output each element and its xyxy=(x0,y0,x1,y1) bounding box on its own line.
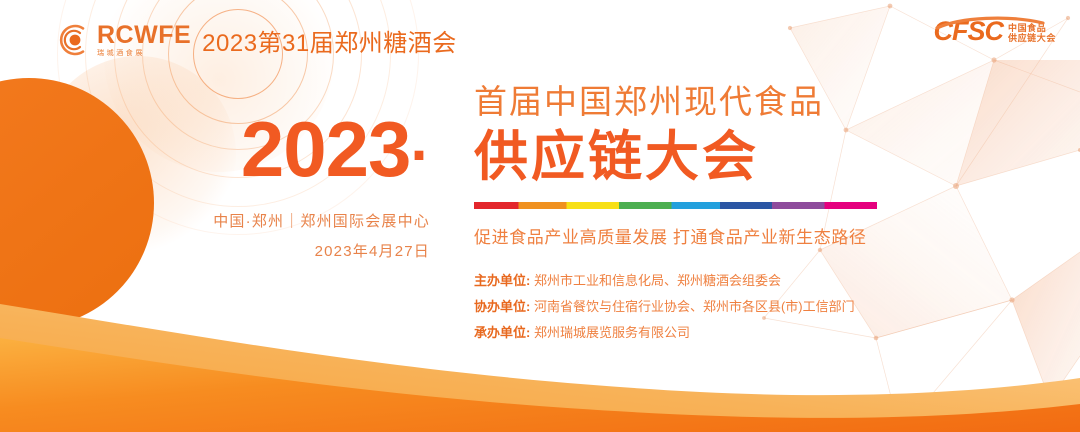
year-heading: 2023· xyxy=(0,110,430,188)
organizer-value: 河南省餐饮与住宿行业协会、郑州市各区县(市)工信部门 xyxy=(534,299,855,314)
swoosh-icon xyxy=(935,9,1045,36)
organizer-row: 承办单位: 郑州瑞城展览服务有限公司 xyxy=(474,326,894,339)
organizer-row: 主办单位: 郑州市工业和信息化局、郑州糖酒会组委会 xyxy=(474,274,894,287)
c-arc-logo-icon xyxy=(56,22,92,58)
cfsc-logo[interactable]: CFSC 中国食品 供应链大会 xyxy=(933,18,1056,45)
rcwfe-logo[interactable]: RCWFE 瑞城酒食展 2023第31届郑州糖酒会 xyxy=(56,22,457,58)
rcwfe-wordmark-sub: 瑞城酒食展 xyxy=(97,50,191,57)
left-content-column: 2023· 中国·郑州｜郑州国际会展中心 2023年4月27日 xyxy=(0,110,452,261)
right-content-column: 首届中国郑州现代食品 供应链大会 促进食品产业高质量发展 打通食品产业新生态路径… xyxy=(474,82,894,352)
organizers-list: 主办单位: 郑州市工业和信息化局、郑州糖酒会组委会 协办单位: 河南省餐饮与住宿… xyxy=(474,274,894,339)
organizer-value: 郑州瑞城展览服务有限公司 xyxy=(534,325,690,340)
headline-line-2: 供应链大会 xyxy=(474,126,894,188)
event-banner: RCWFE 瑞城酒食展 2023第31届郑州糖酒会 CFSC 中国食品 供应链大… xyxy=(0,0,1080,432)
year-separator: · xyxy=(410,121,430,190)
rcwfe-wordmark: RCWFE xyxy=(97,23,191,48)
organizer-value: 郑州市工业和信息化局、郑州糖酒会组委会 xyxy=(534,273,781,288)
rcwfe-wordblock: RCWFE 瑞城酒食展 xyxy=(97,23,191,57)
headline-line-1: 首届中国郑州现代食品 xyxy=(474,82,894,122)
venue-text: 中国·郑州｜郑州国际会展中心 xyxy=(0,210,430,231)
year-value: 2023 xyxy=(241,105,411,193)
event-name-text: 2023第31届郑州糖酒会 xyxy=(202,23,457,58)
organizer-label: 协办单位: xyxy=(474,299,530,314)
organizer-label: 主办单位: xyxy=(474,273,530,288)
tagline-text: 促进食品产业高质量发展 打通食品产业新生态路径 xyxy=(474,223,894,248)
cfsc-wordmark: CFSC xyxy=(933,18,1003,45)
rainbow-color-bar xyxy=(474,202,877,209)
organizer-row: 协办单位: 河南省餐饮与住宿行业协会、郑州市各区县(市)工信部门 xyxy=(474,300,894,313)
date-text: 2023年4月27日 xyxy=(0,240,430,261)
organizer-label: 承办单位: xyxy=(474,325,530,340)
